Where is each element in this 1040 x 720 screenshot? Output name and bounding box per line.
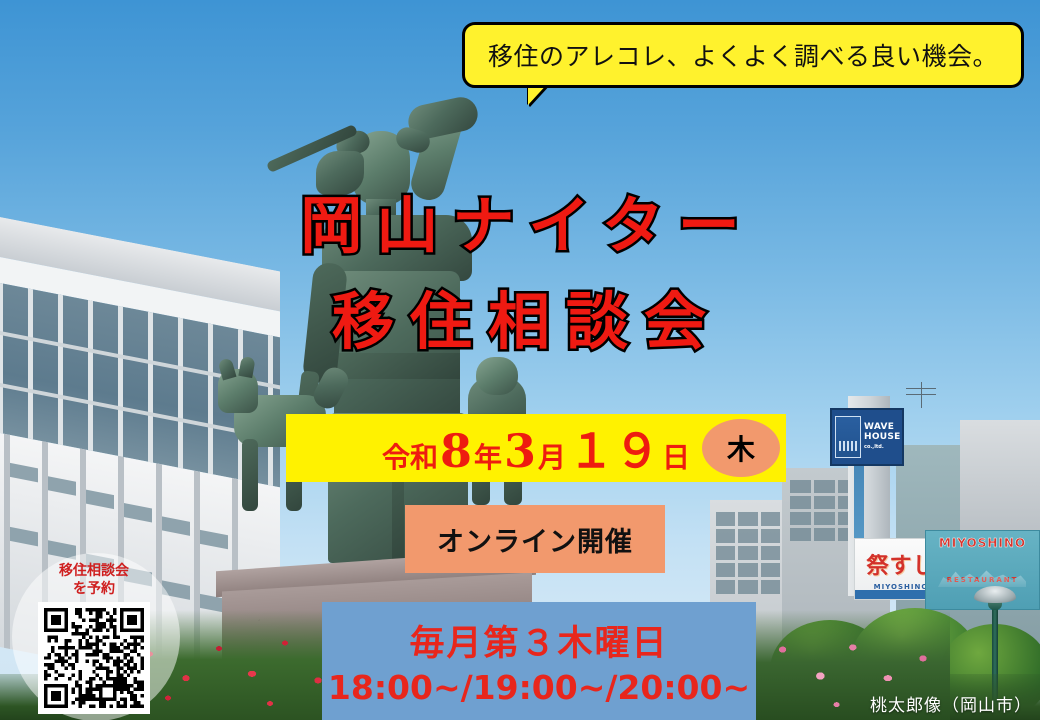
day-of-week-badge: 木 <box>702 419 780 477</box>
qr-label-line2: を予約 <box>24 580 164 598</box>
date-era: 令和 <box>382 436 438 476</box>
wave-house-line3: co.,ltd. <box>864 442 901 452</box>
date-month-number: 3 <box>502 424 538 478</box>
schedule-recurrence: 毎月第３木曜日 <box>409 615 668 666</box>
event-poster: WAVE HOUSE co.,ltd. 祭すし MIYOSHINO MIYOSH… <box>0 0 1040 720</box>
speech-bubble-text: 移住のアレコレ、よくよく調べる良い機会。 <box>488 37 998 73</box>
date-year-number: 8 <box>438 424 474 478</box>
date-day-number: １９ <box>566 415 662 481</box>
speech-bubble: 移住のアレコレ、よくよく調べる良い機会。 <box>462 22 1024 88</box>
wave-house-line2: HOUSE <box>864 432 901 442</box>
street-lamp-head <box>974 586 1016 603</box>
title-line-2: 移住相談会 <box>232 274 822 370</box>
online-format-box: オンライン開催 <box>405 505 665 573</box>
date-day-unit: 日 <box>662 436 690 476</box>
wave-logo-icon <box>835 416 861 458</box>
qr-label-line1: 移住相談会 <box>24 562 164 580</box>
poster-title: 岡山ナイター 移住相談会 <box>232 178 822 370</box>
date-year-unit: 年 <box>474 436 502 476</box>
schedule-box: 毎月第３木曜日 18:00~/19:00~/20:00~ <box>322 602 756 720</box>
title-line-1: 岡山ナイター <box>232 178 822 274</box>
online-format-label: オンライン開催 <box>437 520 633 559</box>
qr-code[interactable] <box>38 602 150 714</box>
wave-house-line1: WAVE <box>864 422 901 432</box>
date-month-unit: 月 <box>538 436 566 476</box>
photo-caption: 桃太郎像（岡山市） <box>870 691 1032 716</box>
qr-label: 移住相談会 を予約 <box>24 562 164 598</box>
qr-code-canvas[interactable] <box>44 608 144 708</box>
statue-dog-leg <box>242 439 258 511</box>
building-block <box>960 420 1040 540</box>
date-banner: 令和 8 年 3 月 １９ 日 木 <box>286 414 786 482</box>
wave-house-sign: WAVE HOUSE co.,ltd. <box>830 408 904 466</box>
schedule-times: 18:00~/19:00~/20:00~ <box>328 668 750 707</box>
miyoshino-name: MIYOSHINO <box>939 536 1026 550</box>
